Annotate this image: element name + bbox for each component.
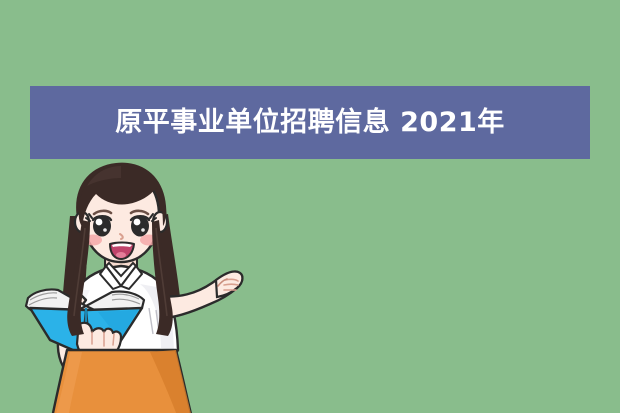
poster-canvas: 原平事业单位招聘信息 2021年	[0, 0, 620, 413]
skirt	[52, 350, 192, 413]
woman-with-book-illustration	[20, 158, 265, 413]
page-title: 原平事业单位招聘信息 2021年	[115, 109, 505, 136]
title-banner: 原平事业单位招聘信息 2021年	[30, 86, 590, 159]
